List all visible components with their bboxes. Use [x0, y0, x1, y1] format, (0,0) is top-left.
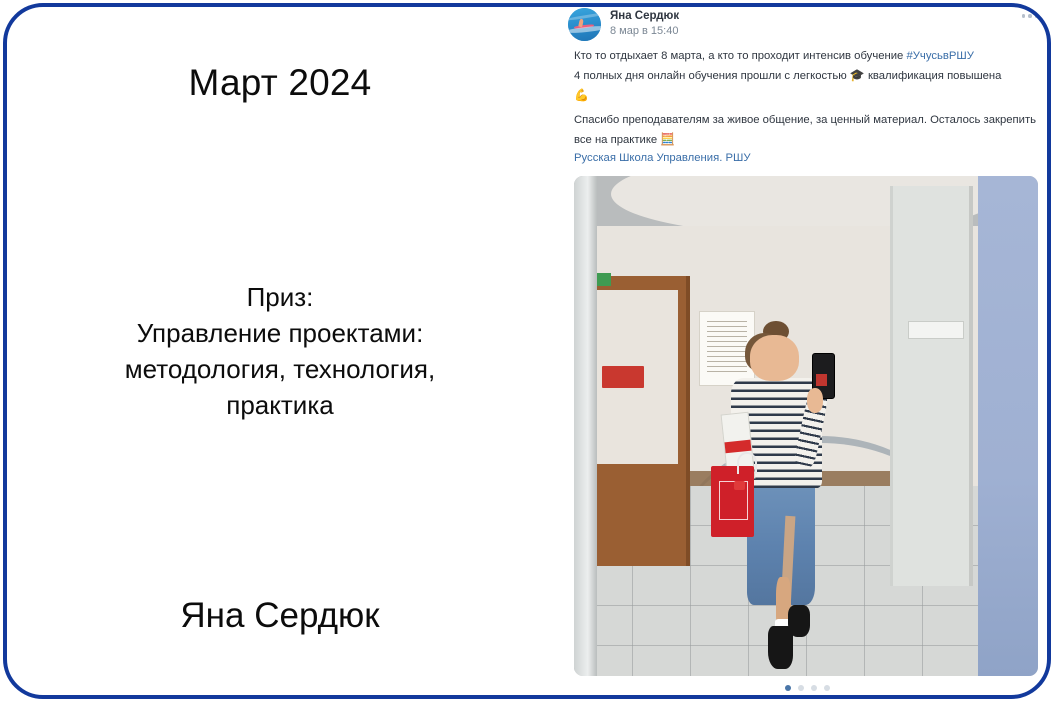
- page-link[interactable]: Русская Школа Управления. РШУ: [574, 152, 751, 164]
- post-timestamp: 8 мар в 15:40: [610, 25, 679, 39]
- abacus-emoji: 🧮: [660, 132, 675, 146]
- dot-3: [1035, 14, 1039, 18]
- post-line-2-text: 4 полных дня онлайн обучения прошли с ле…: [574, 70, 850, 82]
- post-header-text: Яна Сердюк 8 мар в 15:40: [610, 8, 679, 39]
- post-text-line-5: Русская Школа Управления. РШУ: [574, 150, 1038, 167]
- vk-post-card: Яна Сердюк 8 мар в 15:40 Кто то отдыхает…: [560, 0, 1054, 702]
- hashtag-link[interactable]: #УчусьвРШУ: [906, 50, 973, 62]
- post-text-body: Кто то отдыхает 8 марта, а кто то проход…: [560, 41, 1054, 167]
- post-header: Яна Сердюк 8 мар в 15:40: [560, 0, 1054, 41]
- photo-red-shopping-bag: [711, 466, 753, 537]
- post-photo[interactable]: [574, 176, 1038, 676]
- photo-wall-plate: [908, 321, 964, 339]
- photo-blue-wall: [978, 176, 1038, 676]
- photo-hand: [807, 388, 823, 413]
- prize-line-2: Управление проектами:: [40, 316, 520, 352]
- presentation-slide: Март 2024 Приз: Управление проектами: ме…: [0, 0, 1054, 702]
- photo-mirror-edge: [574, 176, 597, 676]
- photo-person: [718, 321, 880, 676]
- post-action-bar: 27 263: [560, 691, 1054, 702]
- slide-date: Март 2024: [0, 62, 560, 104]
- photo-head: [750, 335, 799, 381]
- left-text-panel: Март 2024 Приз: Управление проектами: ме…: [0, 0, 560, 702]
- winner-name: Яна Сердюк: [0, 596, 560, 636]
- photo-red-bracelet: [734, 481, 745, 490]
- post-text-line-3: 💪: [574, 86, 1038, 105]
- photo-wooden-door: [588, 276, 690, 566]
- post-text-line-2: 4 полных дня онлайн обучения прошли с ле…: [574, 66, 1038, 85]
- more-options-icon[interactable]: [1022, 14, 1039, 18]
- prize-line-4: практика: [40, 388, 520, 424]
- dot-2: [1028, 14, 1032, 18]
- post-line-2-tail: квалификация повышена: [865, 70, 1002, 82]
- post-line-1-text: Кто то отдыхает 8 марта, а кто то проход…: [574, 50, 906, 62]
- prize-description: Приз: Управление проектами: методология,…: [40, 280, 520, 424]
- post-text-line-1: Кто то отдыхает 8 марта, а кто то проход…: [574, 48, 1038, 65]
- muscle-emoji: 💪: [574, 88, 589, 102]
- graduate-emoji: 🎓: [850, 68, 865, 82]
- photo-scene: [574, 176, 1038, 676]
- prize-line-3: методология, технология,: [40, 352, 520, 388]
- post-author-name[interactable]: Яна Сердюк: [610, 9, 679, 23]
- post-line-4-text: Спасибо преподавателям за живое общение,…: [574, 114, 1036, 145]
- avatar[interactable]: [568, 8, 601, 41]
- dot-1: [1022, 14, 1026, 18]
- post-text-line-4: Спасибо преподавателям за живое общение,…: [574, 112, 1038, 148]
- photo-boot-front: [768, 626, 792, 669]
- photo-red-sign: [602, 366, 644, 389]
- photo-pillar: [890, 186, 974, 586]
- prize-line-1: Приз:: [40, 280, 520, 316]
- photo-bag-handle: [737, 452, 756, 473]
